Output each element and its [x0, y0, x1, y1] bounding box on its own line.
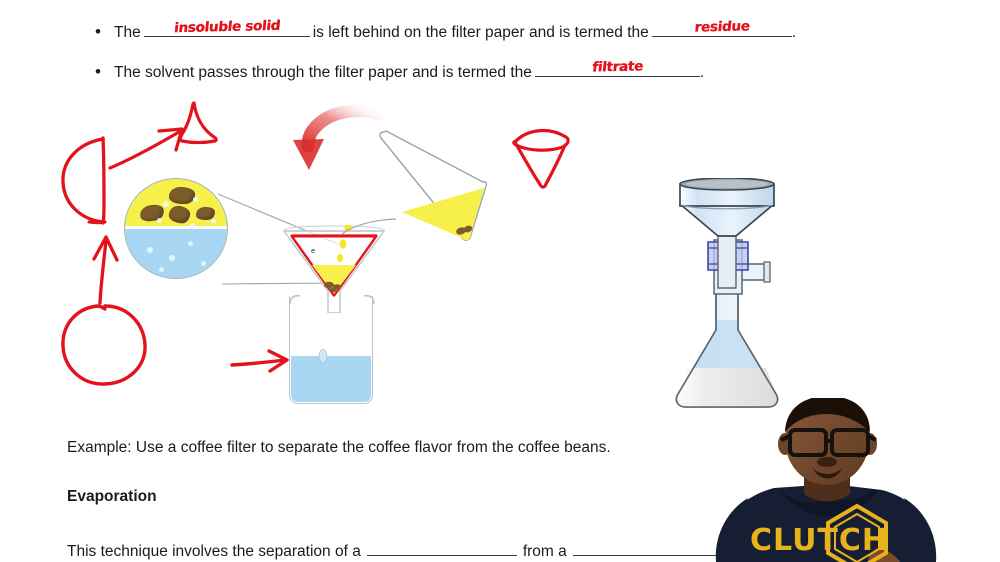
bubble [163, 201, 169, 207]
evaporation-lead-text: This technique involves the separation o… [67, 543, 361, 561]
bubble [169, 255, 175, 261]
section-heading-evaporation: Evaporation [67, 488, 157, 506]
red-hand-drawn-arrow-up: red-hand-drawn-arrow-up [80, 229, 128, 305]
example-line: Example: Use a coffee filter to separate… [67, 439, 611, 457]
red-hand-drawn-circle-filter-paper: red-hand-drawn-circle-filter-paper [58, 302, 150, 388]
bubble [190, 223, 195, 228]
clutch-shirt-text: CLUTCH [750, 523, 888, 558]
presenter-video-overlay: CLUTCH [682, 398, 1000, 562]
bullet-1-lead-text: The [111, 24, 144, 42]
insoluble-particle [169, 187, 195, 204]
handwriting-residue: residue [651, 17, 793, 36]
beaker-lips-and-drop [286, 290, 378, 370]
handwriting-insoluble-solid: insoluble solid [143, 17, 311, 37]
red-hand-drawn-open-cone: red-hand-drawn-open-cone [508, 124, 578, 190]
blank-insoluble-solid[interactable]: insoluble solid [144, 18, 310, 37]
blank-evaporation-1[interactable] [367, 537, 517, 556]
bullet-2-period: . [700, 64, 704, 82]
evaporation-line: This technique involves the separation o… [67, 537, 729, 561]
red-hand-drawn-folded-quarter: red-hand-drawn-folded-quarter [176, 100, 222, 148]
bubble [188, 241, 193, 246]
bubble [147, 247, 153, 253]
bullet-row-2: • The solvent passes through the filter … [95, 58, 704, 82]
red-hand-drawn-arrow-right-to-beaker: red-hand-drawn-arrow-right-to-beaker [229, 348, 291, 378]
bullet-2-lead-text: The solvent passes through the filter pa… [111, 64, 535, 82]
blank-filtrate[interactable]: filtrate [535, 58, 700, 77]
handwriting-evaporation-1 [367, 552, 517, 555]
presenter-figure: CLUTCH [682, 398, 1000, 562]
blank-residue[interactable]: residue [652, 18, 792, 37]
pink-curved-pour-arrow: pink-curved-pour-arrow [288, 104, 384, 176]
evaporation-mid-text: from a [523, 543, 567, 561]
bullet-marker: • [95, 23, 111, 40]
bullet-marker: • [95, 63, 111, 80]
handwriting-filtrate: filtrate [534, 57, 701, 77]
bubble [157, 218, 162, 223]
bullet-1-mid-text: is left behind on the filter paper and i… [310, 24, 652, 42]
svg-text:e: e [311, 247, 315, 255]
buchner-funnel-with-filter-flask: buchner-funnel-with-filter-flask [664, 178, 790, 416]
bullet-row-1: • The insoluble solid is left behind on … [95, 18, 796, 42]
bubble [159, 267, 164, 272]
slide-canvas: • The insoluble solid is left behind on … [0, 0, 1000, 562]
insoluble-particle [168, 205, 191, 225]
bullet-1-period: . [792, 24, 796, 42]
pouring-stream [340, 216, 400, 240]
